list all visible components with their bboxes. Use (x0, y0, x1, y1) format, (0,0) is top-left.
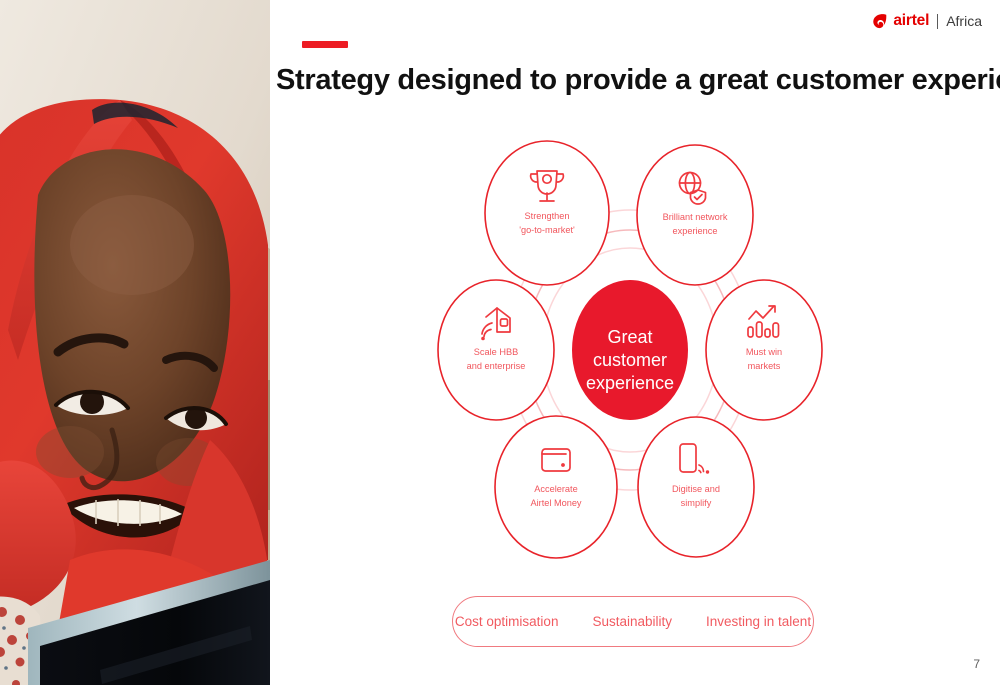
bubble-label: markets (748, 361, 781, 371)
page-number: 7 (973, 657, 980, 671)
brand-divider (937, 14, 938, 29)
airtel-swoosh-icon (872, 13, 888, 30)
bubble-label: Accelerate (534, 484, 577, 494)
enablers-bar: Cost optimisation Sustainability Investi… (452, 596, 814, 647)
bubble-brilliant-network-experience[interactable]: Brilliant network experience (637, 145, 753, 285)
page-title: Strategy designed to provide a great cus… (276, 64, 986, 97)
diagram-core: Great customer experience (572, 280, 688, 420)
brand-wordmark: airtel (893, 13, 929, 29)
bubble-accelerate-airtel-money[interactable]: Accelerate Airtel Money (495, 416, 617, 558)
bubble-label: Strengthen (525, 211, 570, 221)
bubble-scale-hbb-and-enterprise[interactable]: Scale HBB and enterprise (438, 280, 554, 420)
core-label-line-3: experience (586, 373, 674, 393)
enabler-investing-in-talent[interactable]: Investing in talent (706, 614, 811, 629)
core-label-line-1: Great (607, 327, 652, 347)
bubble-label: Brilliant network (663, 212, 728, 222)
bubble-label: Scale HBB (474, 347, 518, 357)
brand-region: Africa (946, 14, 982, 28)
strategy-diagram-svg: Strengthen 'go-to-market' Brilliant netw… (430, 135, 830, 565)
bubble-label: Digitise and (672, 484, 720, 494)
bubble-label: Airtel Money (530, 498, 581, 508)
bubble-label: 'go-to-market' (519, 225, 575, 235)
bubble-strengthen-go-to-market[interactable]: Strengthen 'go-to-market' (485, 141, 609, 285)
hero-photo-illustration (0, 0, 270, 685)
bubble-label: and enterprise (467, 361, 526, 371)
bubble-label: experience (673, 226, 718, 236)
core-label-line-2: customer (593, 350, 667, 370)
bubble-label: Must win (746, 347, 782, 357)
bubble-label: simplify (681, 498, 712, 508)
brand-logo: airtel Africa (872, 10, 982, 32)
enabler-sustainability[interactable]: Sustainability (592, 614, 672, 629)
title-accent-bar (302, 41, 348, 48)
enabler-cost-optimisation[interactable]: Cost optimisation (455, 614, 559, 629)
hero-photo (0, 0, 270, 685)
bubble-digitise-and-simplify[interactable]: Digitise and simplify (638, 417, 754, 557)
strategy-diagram: Strengthen 'go-to-market' Brilliant netw… (430, 135, 830, 565)
bubble-must-win-markets[interactable]: Must win markets (706, 280, 822, 420)
